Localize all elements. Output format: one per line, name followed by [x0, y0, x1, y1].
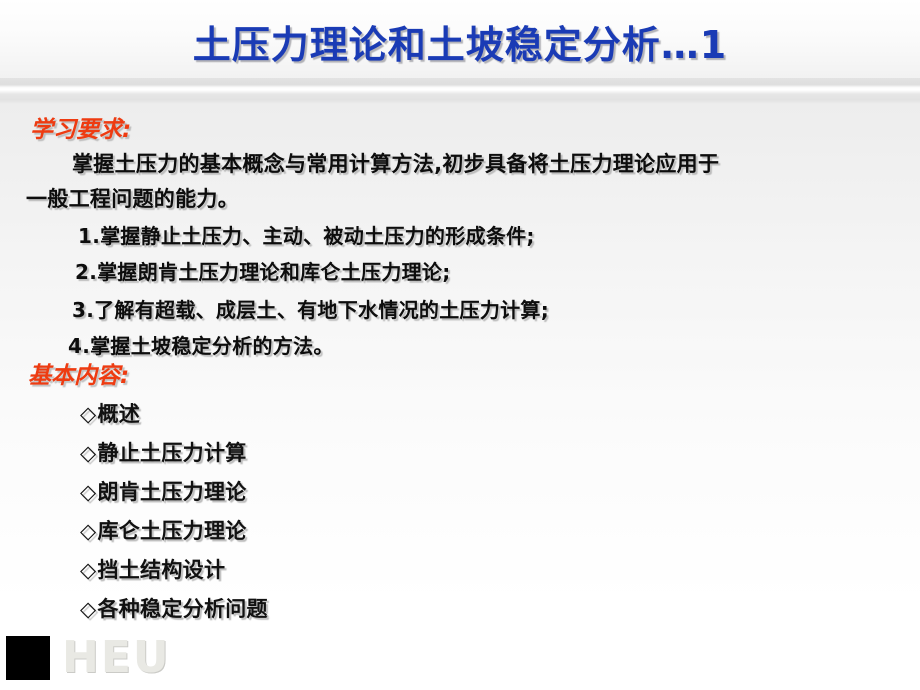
content-bullet-6-label: 各种稳定分析问题 [97, 597, 267, 621]
content-bullet-2-label: 静止土压力计算 [97, 441, 246, 465]
diamond-bullet-icon: ◇ [80, 441, 96, 465]
content-bullet-5: ◇挡土结构设计 [80, 554, 225, 584]
content-bullet-4-label: 库仑土压力理论 [97, 519, 246, 543]
content-bullet-4: ◇库仑土压力理论 [80, 515, 247, 545]
learning-item-1: 1.掌握静止土压力、主动、被动土压力的形成条件; [78, 220, 535, 249]
slide-canvas: 土压力理论和土坡稳定分析…1 学习要求: 掌握土压力的基本概念与常用计算方法,初… [0, 0, 920, 690]
diamond-bullet-icon: ◇ [80, 480, 96, 504]
diamond-bullet-icon: ◇ [80, 558, 96, 582]
learning-paragraph-line-2: 一般工程问题的能力。 [26, 183, 239, 213]
learning-requirements-heading: 学习要求: [30, 110, 131, 144]
logo-square-icon [6, 636, 50, 680]
content-bullet-3: ◇朗肯土压力理论 [80, 476, 247, 506]
learning-item-4: 4.掌握土坡稳定分析的方法。 [68, 330, 334, 359]
basic-contents-heading: 基本内容: [28, 356, 129, 390]
content-bullet-1-label: 概述 [97, 402, 140, 426]
content-bullet-5-label: 挡土结构设计 [97, 558, 225, 582]
logo-wordmark: HEU [62, 634, 171, 682]
content-bullet-3-label: 朗肯土压力理论 [97, 480, 246, 504]
content-bullet-2: ◇静止土压力计算 [80, 437, 247, 467]
diamond-bullet-icon: ◇ [80, 402, 96, 426]
diamond-bullet-icon: ◇ [80, 597, 96, 621]
learning-paragraph-line-1: 掌握土压力的基本概念与常用计算方法,初步具备将土压力理论应用于 [72, 148, 719, 178]
content-bullet-1: ◇概述 [80, 398, 140, 428]
content-bullet-6: ◇各种稳定分析问题 [80, 593, 268, 623]
learning-item-2: 2.掌握朗肯土压力理论和库仑土压力理论; [75, 256, 451, 285]
diamond-bullet-icon: ◇ [80, 519, 96, 543]
slide-content: 学习要求: 掌握土压力的基本概念与常用计算方法,初步具备将土压力理论应用于 一般… [0, 0, 920, 690]
learning-item-3: 3.了解有超载、成层土、有地下水情况的土压力计算; [72, 294, 549, 323]
